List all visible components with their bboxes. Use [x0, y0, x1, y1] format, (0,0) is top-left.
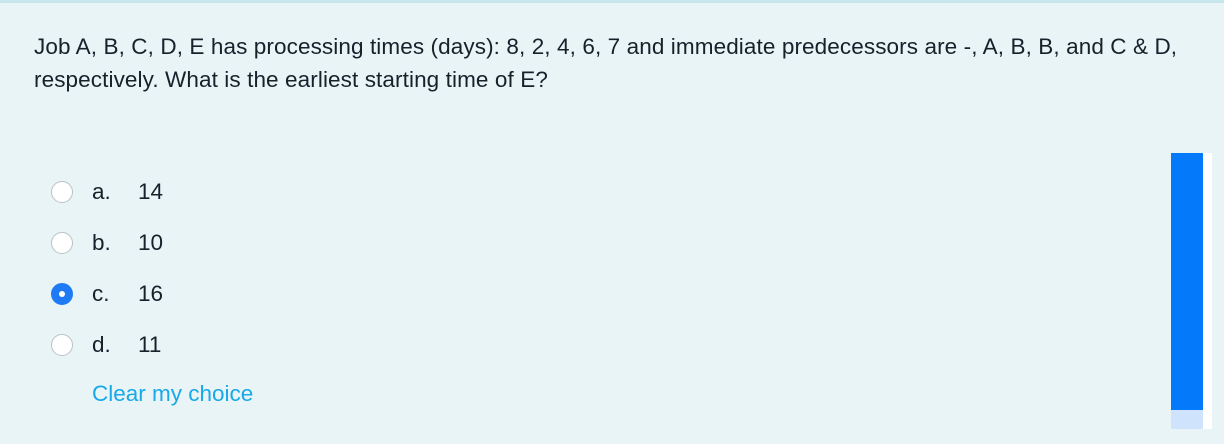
top-divider	[0, 0, 1224, 3]
answer-value-b: 10	[138, 230, 163, 256]
answer-letter-d: d.	[92, 332, 124, 358]
radio-button-a[interactable]	[51, 181, 73, 203]
answer-value-a: 14	[138, 179, 163, 205]
answer-value-d: 11	[138, 332, 161, 358]
answer-letter-b: b.	[92, 230, 124, 256]
scrollbar-track[interactable]	[1171, 410, 1203, 429]
vertical-scrollbar[interactable]	[1171, 153, 1203, 429]
answer-value-c: 16	[138, 281, 163, 307]
radio-button-d[interactable]	[51, 334, 73, 356]
radio-button-c[interactable]	[51, 283, 73, 305]
answer-option-c[interactable]: c. 16	[51, 268, 651, 319]
answer-option-a[interactable]: a. 14	[51, 166, 651, 217]
answer-option-d[interactable]: d. 11	[51, 319, 651, 370]
radio-button-b[interactable]	[51, 232, 73, 254]
answer-options-list: a. 14 b. 10 c. 16 d. 11	[51, 166, 651, 370]
clear-my-choice-link[interactable]: Clear my choice	[92, 379, 253, 409]
answer-option-b[interactable]: b. 10	[51, 217, 651, 268]
answer-letter-c: c.	[92, 281, 124, 307]
answer-letter-a: a.	[92, 179, 124, 205]
scrollbar-gutter	[1203, 153, 1212, 429]
scrollbar-thumb[interactable]	[1171, 153, 1203, 410]
question-text: Job A, B, C, D, E has processing times (…	[34, 30, 1200, 96]
quiz-question-page: Job A, B, C, D, E has processing times (…	[0, 0, 1224, 444]
